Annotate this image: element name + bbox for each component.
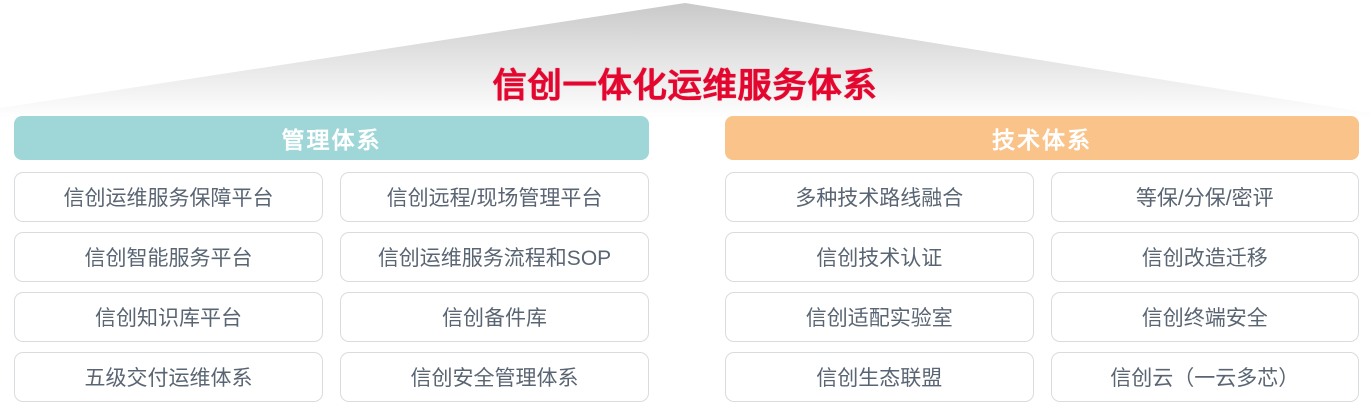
- card-item[interactable]: 信创远程/现场管理平台: [340, 172, 649, 222]
- card-item[interactable]: 信创技术认证: [725, 232, 1034, 282]
- group-header-management: 管理体系: [14, 116, 649, 160]
- card-item[interactable]: 多种技术路线融合: [725, 172, 1034, 222]
- card-item[interactable]: 等保/分保/密评: [1051, 172, 1360, 222]
- card-item[interactable]: 信创备件库: [340, 292, 649, 342]
- card-grid-management: 信创运维服务保障平台 信创远程/现场管理平台 信创智能服务平台 信创运维服务流程…: [14, 172, 649, 402]
- card-item[interactable]: 信创智能服务平台: [14, 232, 323, 282]
- card-item[interactable]: 信创安全管理体系: [340, 352, 649, 402]
- group-technology: 技术体系 多种技术路线融合 等保/分保/密评 信创技术认证 信创改造迁移 信创适…: [725, 116, 1359, 402]
- card-item[interactable]: 信创改造迁移: [1051, 232, 1360, 282]
- card-item[interactable]: 信创知识库平台: [14, 292, 323, 342]
- group-header-technology: 技术体系: [725, 116, 1359, 160]
- card-grid-technology: 多种技术路线融合 等保/分保/密评 信创技术认证 信创改造迁移 信创适配实验室 …: [725, 172, 1359, 402]
- card-item[interactable]: 信创运维服务流程和SOP: [340, 232, 649, 282]
- card-item[interactable]: 信创云（一云多芯）: [1051, 352, 1360, 402]
- card-item[interactable]: 信创终端安全: [1051, 292, 1360, 342]
- diagram-canvas: 信创一体化运维服务体系 管理体系 信创运维服务保障平台 信创远程/现场管理平台 …: [0, 0, 1370, 418]
- group-management: 管理体系 信创运维服务保障平台 信创远程/现场管理平台 信创智能服务平台 信创运…: [14, 116, 649, 402]
- diagram-title: 信创一体化运维服务体系: [0, 58, 1370, 107]
- card-item[interactable]: 信创运维服务保障平台: [14, 172, 323, 222]
- card-item[interactable]: 五级交付运维体系: [14, 352, 323, 402]
- card-item[interactable]: 信创生态联盟: [725, 352, 1034, 402]
- card-item[interactable]: 信创适配实验室: [725, 292, 1034, 342]
